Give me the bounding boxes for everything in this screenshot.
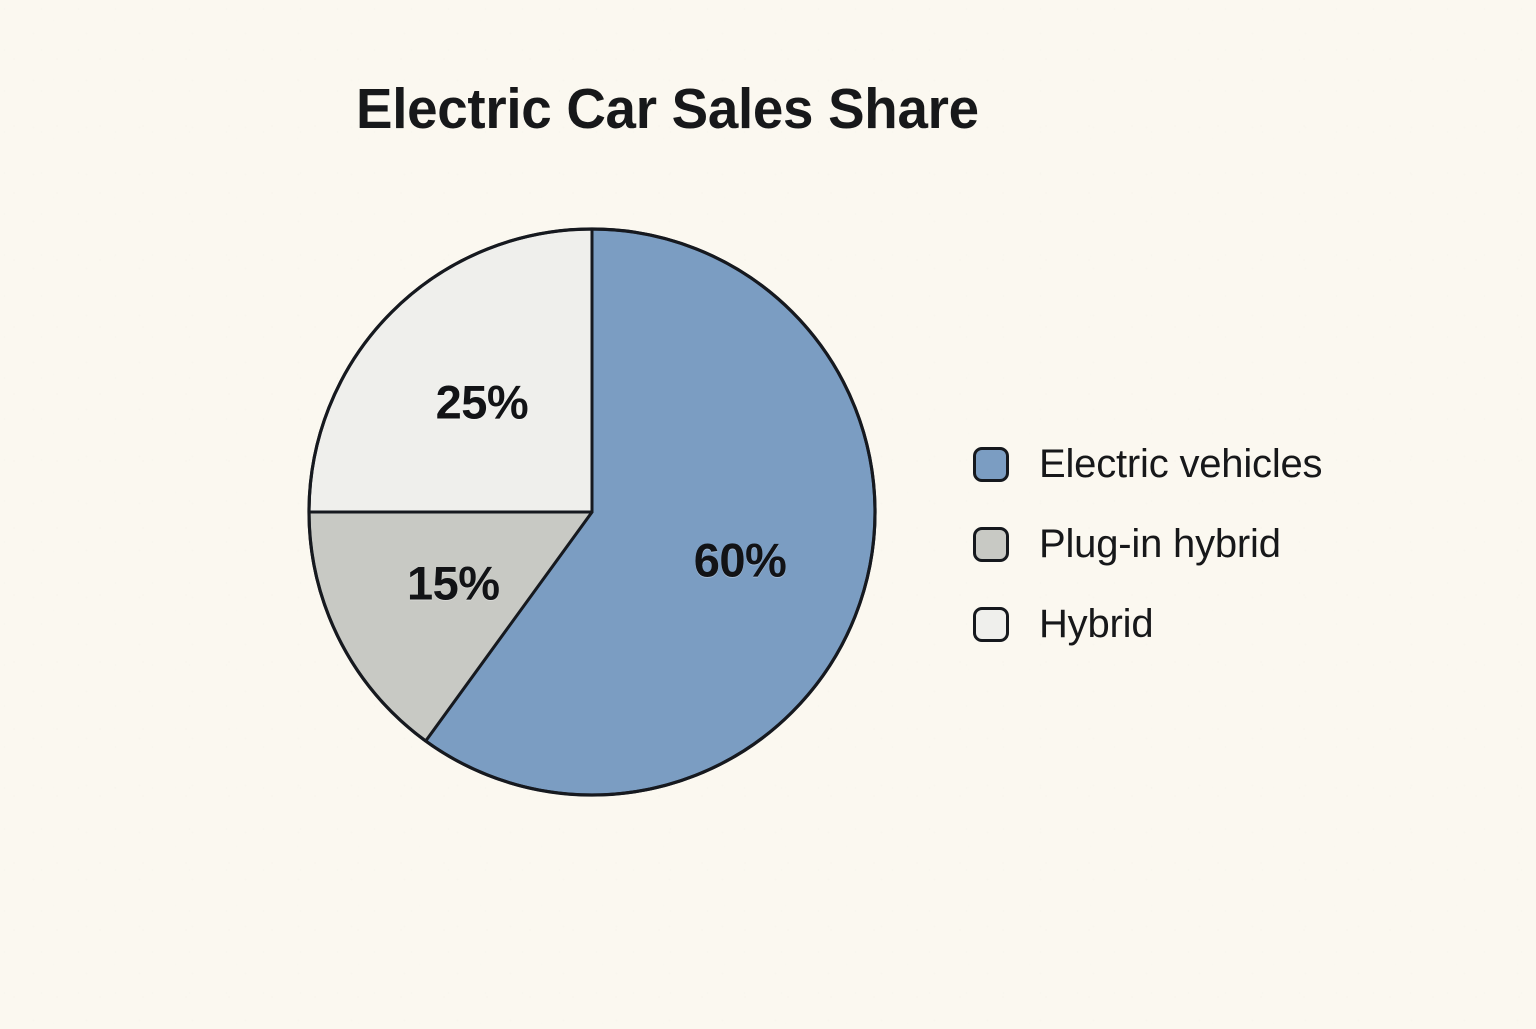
legend-label-hybrid: Hybrid — [1039, 604, 1153, 644]
legend-item-plug-in-hybrid[interactable]: Plug-in hybrid — [973, 504, 1443, 584]
legend-label-electric-vehicles: Electric vehicles — [1039, 444, 1322, 484]
legend-item-hybrid[interactable]: Hybrid — [973, 584, 1443, 664]
pie-slice-hybrid[interactable] — [309, 229, 592, 512]
legend-label-plug-in-hybrid: Plug-in hybrid — [1039, 524, 1281, 564]
pie-label-plug-in-hybrid: 15% — [407, 555, 500, 610]
legend-item-electric-vehicles[interactable]: Electric vehicles — [973, 424, 1443, 504]
legend-swatch-icon-hybrid — [973, 607, 1009, 642]
chart-canvas: Electric Car Sales Share 60% 15% 25% Ele… — [0, 0, 1536, 1024]
legend-swatch-icon-plug-in-hybrid — [973, 527, 1009, 562]
chart-legend: Electric vehicles Plug-in hybrid Hybrid — [973, 424, 1443, 664]
pie-label-hybrid: 25% — [436, 374, 529, 429]
legend-swatch-icon-electric-vehicles — [973, 447, 1009, 482]
pie-label-electric-vehicles: 60% — [694, 533, 787, 588]
